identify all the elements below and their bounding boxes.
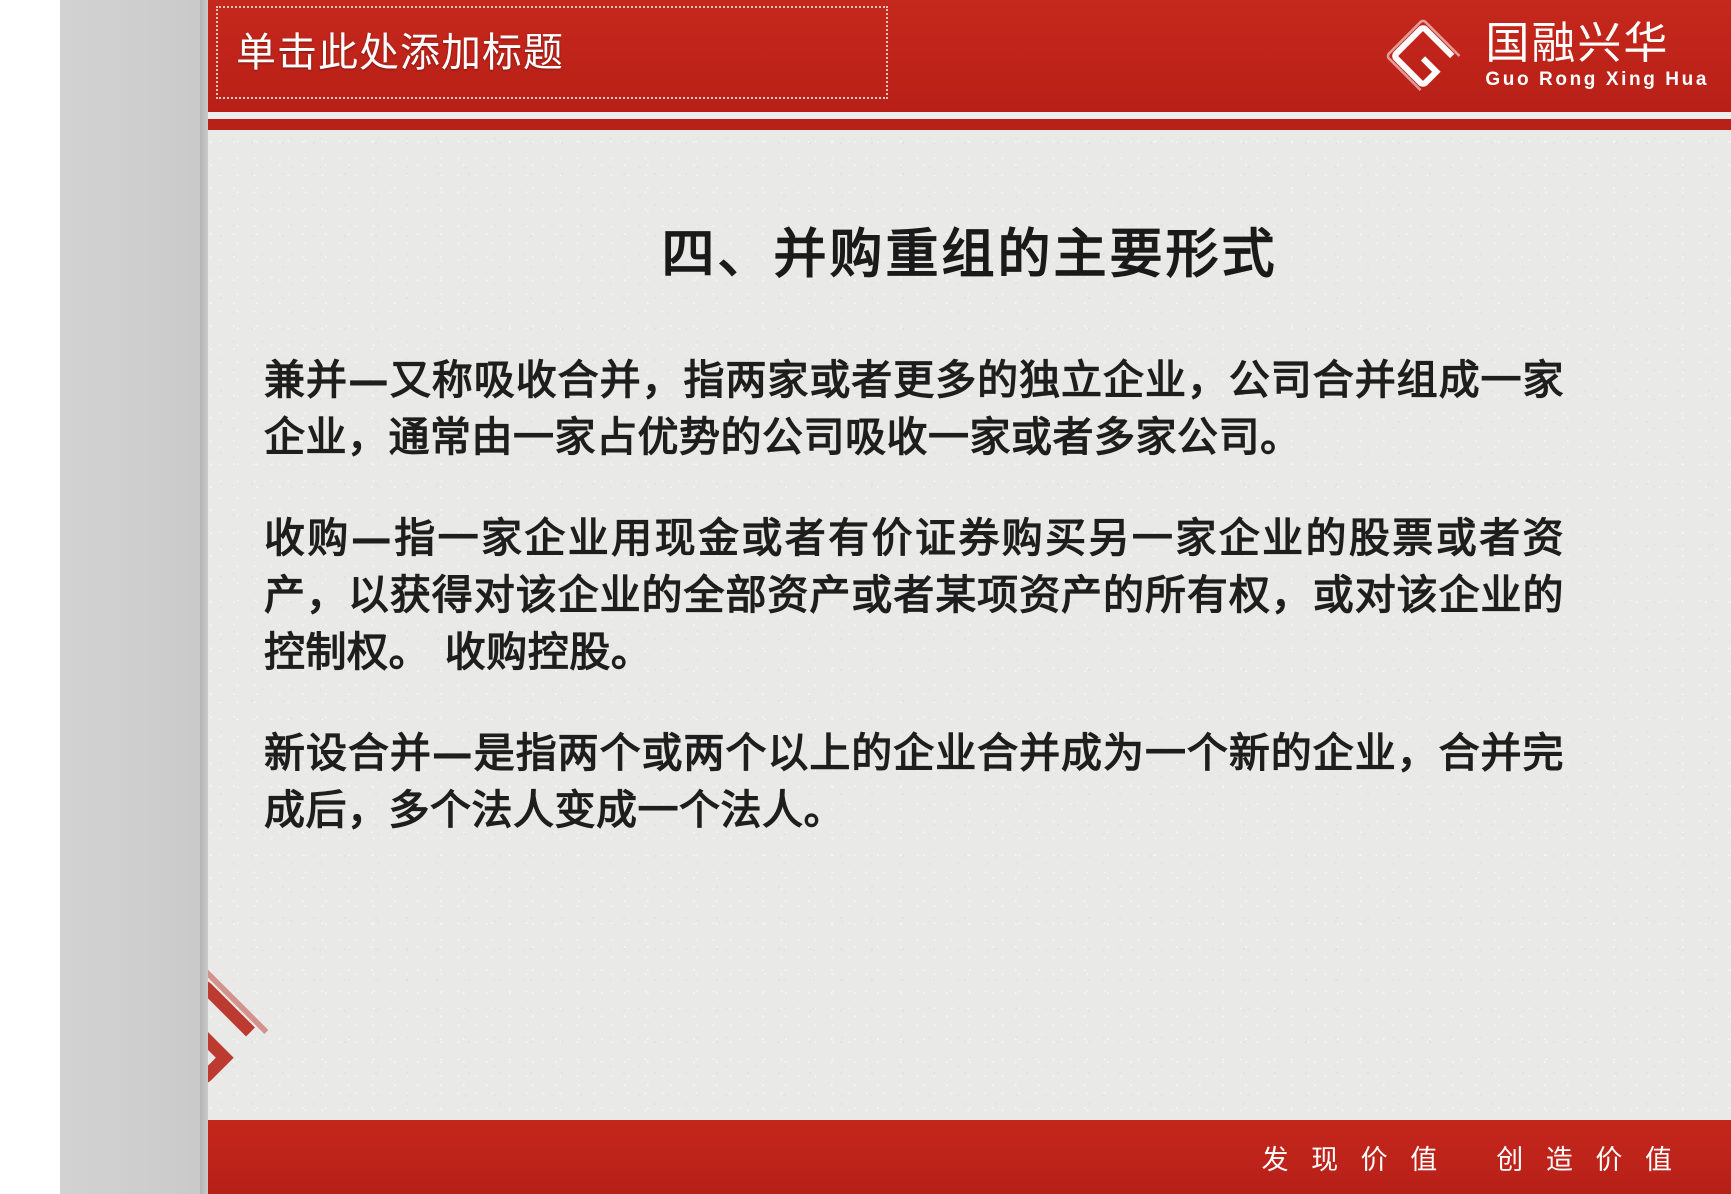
brand-wordmark: 国融兴华 Guo Rong Xing Hua bbox=[1485, 21, 1709, 91]
slide-body-text[interactable]: 兼并—又称吸收合并，指两家或者更多的独立企业，公司合并组成一家企业，通常由一家占… bbox=[264, 352, 1564, 839]
title-placeholder-text[interactable]: 单击此处添加标题 bbox=[236, 33, 564, 73]
slide-canvas[interactable]: 单击此处添加标题 国融兴华 Guo Rong Xing Hua bbox=[208, 0, 1731, 1194]
header-underline-rule bbox=[208, 119, 1731, 130]
body-paragraph-3: 新设合并—是指两个或两个以上的企业合并成为一个新的企业，合并完成后，多个法人变成… bbox=[264, 725, 1564, 839]
header-divider-gap bbox=[208, 112, 1731, 119]
footer-slogan-left: 发 现 价 值 bbox=[1262, 1138, 1445, 1177]
guorong-watermark-icon bbox=[208, 962, 278, 1102]
guorong-g-monogram-icon bbox=[1377, 13, 1469, 99]
slide-heading[interactable]: 四、并购重组的主要形式 bbox=[208, 212, 1731, 288]
slide-header-band: 单击此处添加标题 国融兴华 Guo Rong Xing Hua bbox=[208, 0, 1731, 112]
body-paragraph-2: 收购—指一家企业用现金或者有价证券购买另一家企业的股票或者资产，以获得对该企业的… bbox=[264, 510, 1564, 681]
slide-edge-shadow bbox=[200, 0, 208, 1194]
editor-side-panel[interactable] bbox=[60, 0, 209, 1194]
brand-name-cn: 国融兴华 bbox=[1485, 21, 1709, 67]
footer-slogan-right: 创 造 价 值 bbox=[1496, 1138, 1679, 1177]
brand-logo: 国融兴华 Guo Rong Xing Hua bbox=[1377, 10, 1709, 102]
title-placeholder-box[interactable]: 单击此处添加标题 bbox=[216, 6, 888, 99]
slide-footer-band: 发 现 价 值 创 造 价 值 bbox=[208, 1120, 1731, 1194]
editor-left-margin bbox=[0, 0, 60, 1194]
body-paragraph-1: 兼并—又称吸收合并，指两家或者更多的独立企业，公司合并组成一家企业，通常由一家占… bbox=[264, 352, 1564, 466]
presentation-slide-window: 单击此处添加标题 国融兴华 Guo Rong Xing Hua bbox=[0, 0, 1731, 1194]
brand-name-en: Guo Rong Xing Hua bbox=[1485, 69, 1709, 91]
